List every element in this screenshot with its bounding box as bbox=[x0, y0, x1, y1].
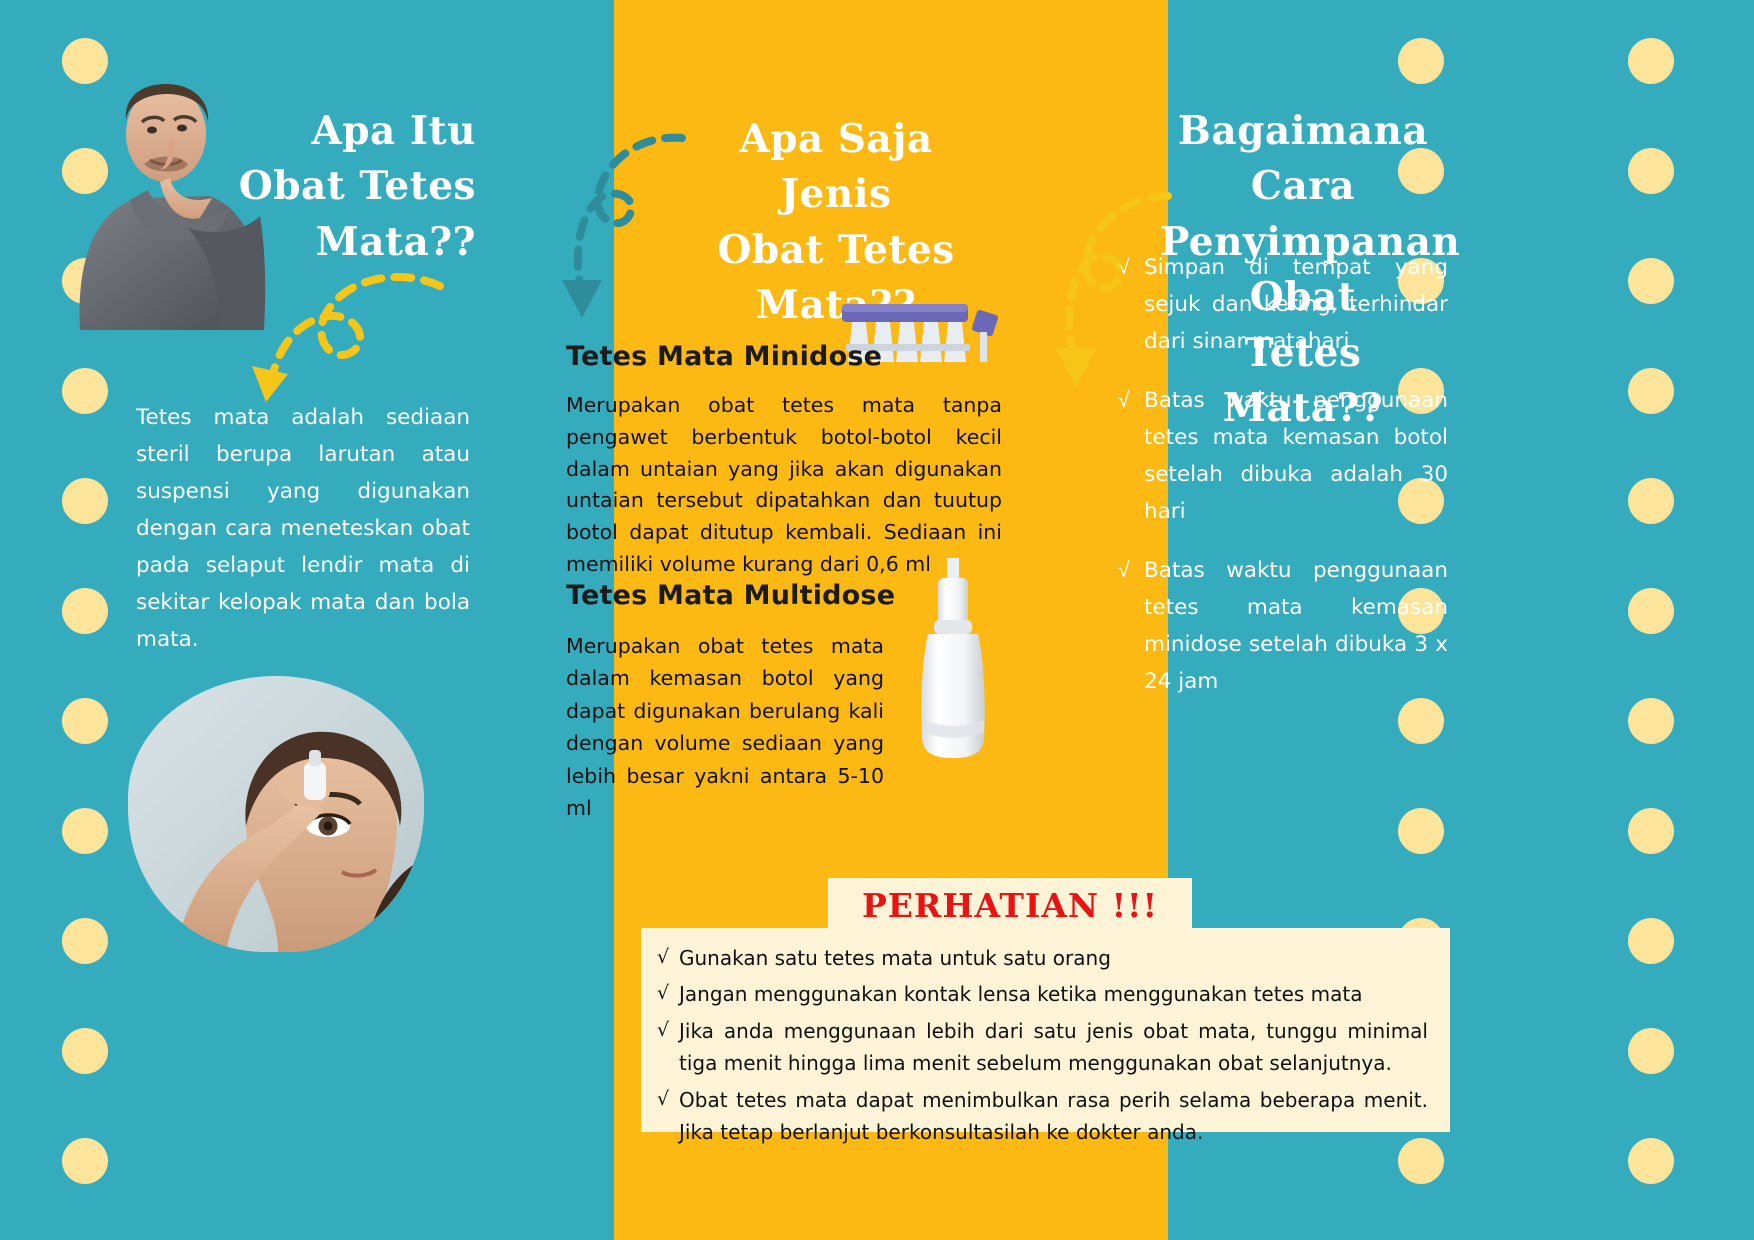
attention-banner: PERHATIAN !!! bbox=[828, 878, 1192, 932]
decorative-dot bbox=[1628, 148, 1674, 194]
checkmark-icon: √ bbox=[657, 942, 679, 974]
decorative-dot bbox=[1628, 478, 1674, 524]
curved-dashed-arrow-down-teal-icon bbox=[556, 128, 686, 328]
decorative-dot bbox=[1628, 368, 1674, 414]
storage-instruction-item: √Simpan di tempat yang sejuk dan kering,… bbox=[1118, 250, 1448, 361]
dropper-bottle-icon bbox=[900, 552, 1006, 764]
decorative-dot bbox=[1628, 808, 1674, 854]
left-panel-title: Apa Itu Obat Tetes Mata?? bbox=[230, 104, 476, 270]
attention-list: √Gunakan satu tetes mata untuk satu oran… bbox=[657, 942, 1428, 1148]
checkmark-icon: √ bbox=[657, 1015, 679, 1080]
right-title-line-1: Bagaimana Cara bbox=[1160, 104, 1446, 215]
attention-item-text: Jangan menggunakan kontak lensa ketika m… bbox=[679, 978, 1428, 1010]
multidose-paragraph: Merupakan obat tetes mata dalam kemasan … bbox=[566, 630, 884, 824]
storage-instruction-item: √Batas waktu penggunaan tetes mata kemas… bbox=[1118, 553, 1448, 701]
decorative-dot bbox=[62, 588, 108, 634]
attention-item-text: Gunakan satu tetes mata untuk satu orang bbox=[679, 942, 1428, 974]
decorative-dot bbox=[62, 918, 108, 964]
checkmark-icon: √ bbox=[1118, 553, 1144, 701]
decorative-dot bbox=[1628, 258, 1674, 304]
attention-item-text: Jika anda menggunaan lebih dari satu jen… bbox=[679, 1015, 1428, 1080]
checkmark-icon: √ bbox=[657, 978, 679, 1010]
decorative-dot bbox=[62, 698, 108, 744]
checkmark-icon: √ bbox=[1118, 383, 1144, 531]
attention-item: √Jika anda menggunaan lebih dari satu je… bbox=[657, 1015, 1428, 1080]
decorative-dot bbox=[1628, 588, 1674, 634]
attention-box: √Gunakan satu tetes mata untuk satu oran… bbox=[634, 928, 1450, 1132]
attention-item: √Jangan menggunakan kontak lensa ketika … bbox=[657, 978, 1428, 1010]
middle-title-line-1: Apa Saja Jenis bbox=[690, 112, 982, 223]
checkmark-icon: √ bbox=[1118, 250, 1144, 361]
left-panel-paragraph: Tetes mata adalah sediaan steril berupa … bbox=[136, 400, 470, 659]
decorative-dot bbox=[1398, 38, 1444, 84]
attention-item: √Obat tetes mata dapat menimbulkan rasa … bbox=[657, 1084, 1428, 1149]
storage-instruction-text: Batas waktu penggunaan tetes mata kemasa… bbox=[1144, 383, 1448, 531]
storage-instructions-list: √Simpan di tempat yang sejuk dan kering,… bbox=[1118, 250, 1448, 723]
decorative-dot bbox=[1628, 1028, 1674, 1074]
storage-instruction-text: Batas waktu penggunaan tetes mata kemasa… bbox=[1144, 553, 1448, 701]
left-title-line-2: Obat Tetes bbox=[230, 159, 476, 214]
decorative-dot bbox=[1398, 808, 1444, 854]
left-title-line-3: Mata?? bbox=[230, 215, 476, 270]
decorative-dot bbox=[1628, 1138, 1674, 1184]
checkmark-icon: √ bbox=[657, 1084, 679, 1149]
woman-applying-eye-drops-photo bbox=[128, 676, 424, 952]
attention-banner-text: PERHATIAN !!! bbox=[862, 886, 1158, 925]
decorative-dot bbox=[62, 368, 108, 414]
decorative-dot bbox=[1628, 698, 1674, 744]
left-title-line-1: Apa Itu bbox=[230, 104, 476, 159]
decorative-dot bbox=[62, 808, 108, 854]
minidose-heading: Tetes Mata Minidose bbox=[566, 341, 882, 372]
decorative-dot bbox=[62, 1138, 108, 1184]
attention-item: √Gunakan satu tetes mata untuk satu oran… bbox=[657, 942, 1428, 974]
storage-instruction-text: Simpan di tempat yang sejuk dan kering, … bbox=[1144, 250, 1448, 361]
storage-instruction-item: √Batas waktu penggunaan tetes mata kemas… bbox=[1118, 383, 1448, 531]
decorative-dot bbox=[1628, 38, 1674, 84]
multidose-heading: Tetes Mata Multidose bbox=[566, 580, 895, 611]
dot-column-far-right bbox=[1628, 0, 1688, 1240]
curved-dashed-arrow-down-yellow-icon bbox=[236, 268, 446, 408]
middle-title-line-2: Obat Tetes bbox=[690, 223, 982, 278]
decorative-dot bbox=[1628, 918, 1674, 964]
decorative-dot bbox=[62, 1028, 108, 1074]
attention-item-text: Obat tetes mata dapat menimbulkan rasa p… bbox=[679, 1084, 1428, 1149]
brochure-page: Apa Itu Obat Tetes Mata?? Tetes mata ada… bbox=[0, 0, 1754, 1240]
decorative-dot bbox=[62, 478, 108, 524]
